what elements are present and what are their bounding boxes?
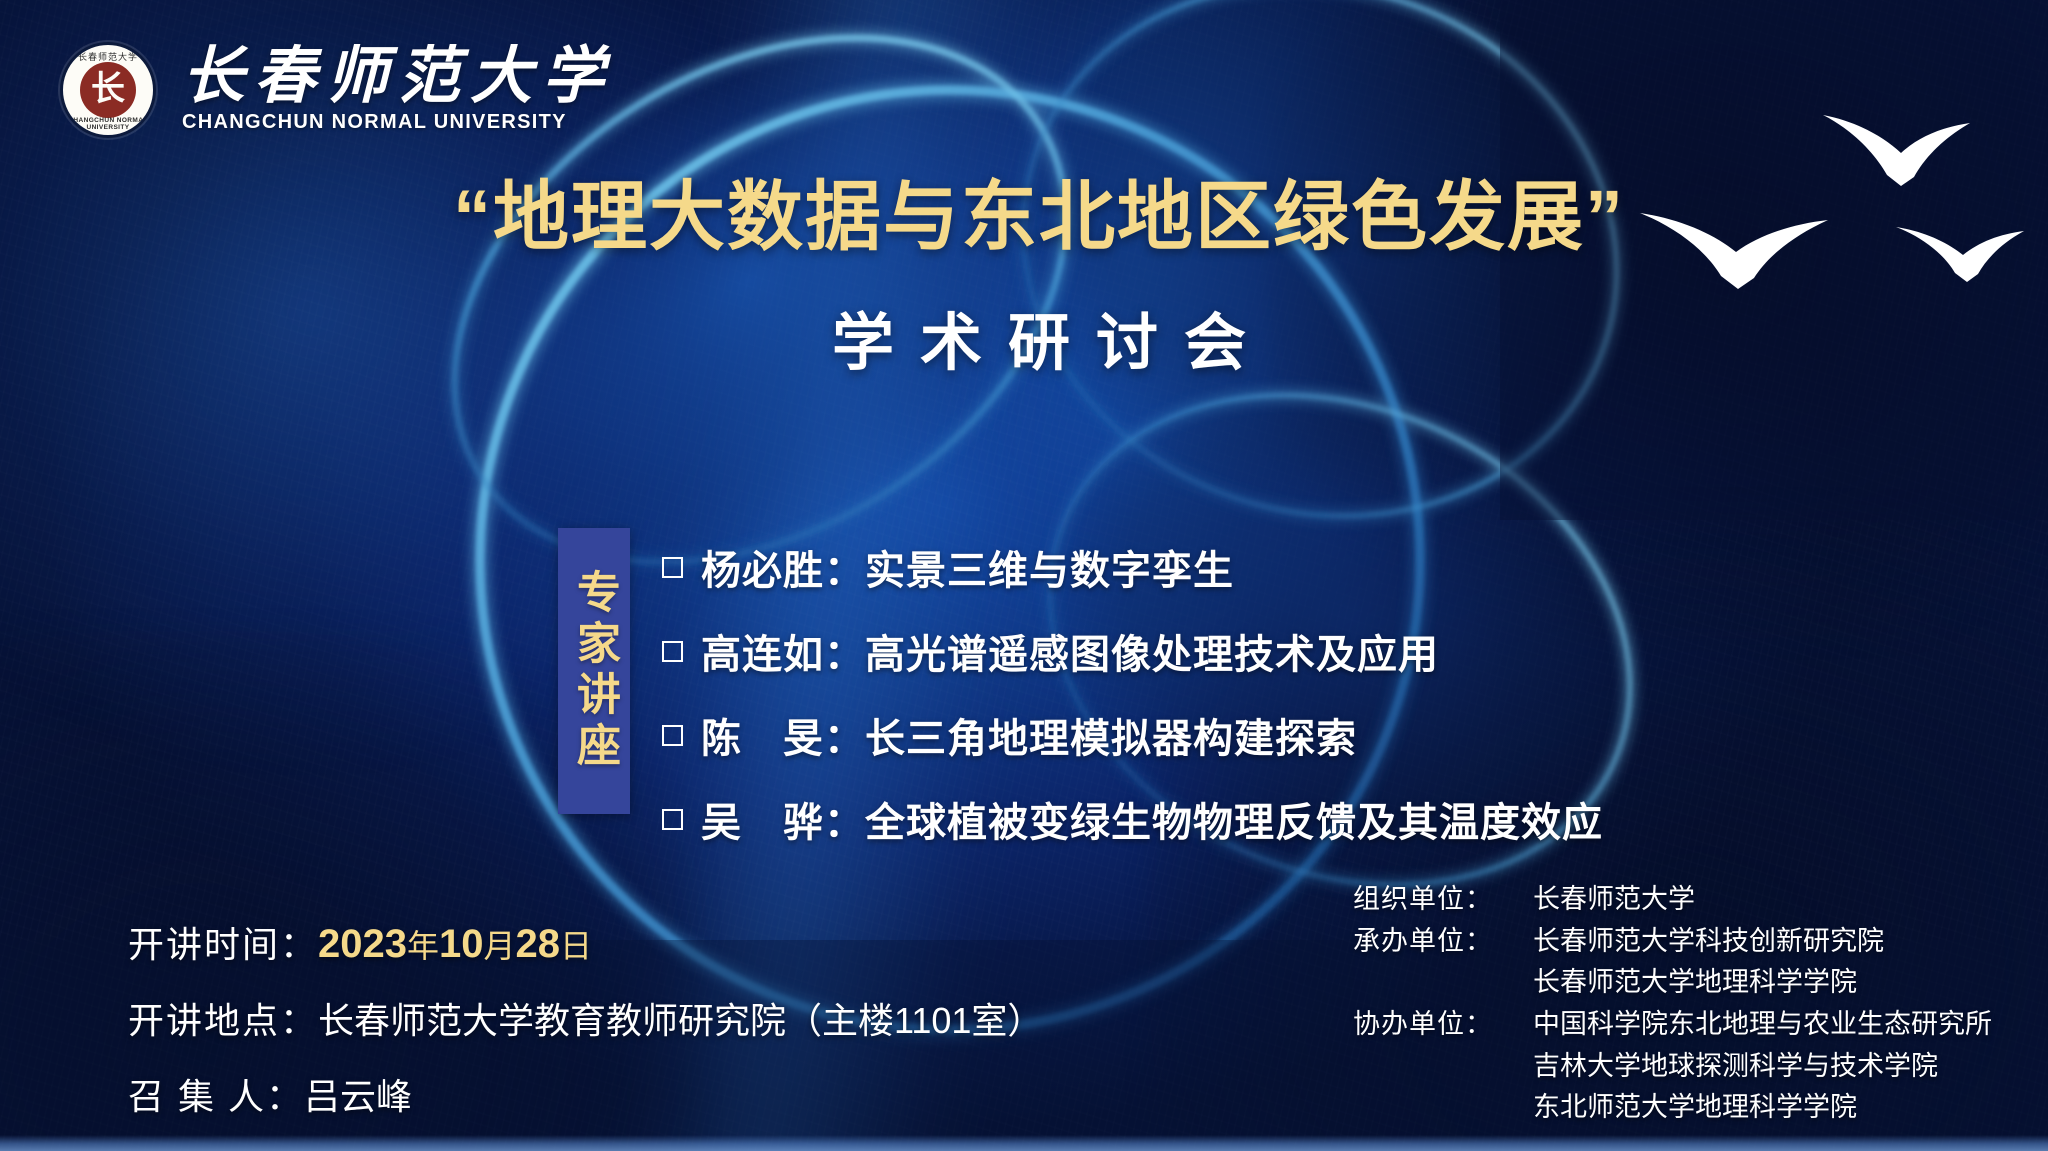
talk-text: 吴 骅：全球植被变绿生物物理反馈及其温度效应 xyxy=(701,790,1603,848)
organizer-value: 长春师范大学科技创新研究院 xyxy=(1533,924,1884,960)
poster-subtitle: 学术研讨会 xyxy=(0,292,2048,382)
university-seal-icon: 长春师范大学 长 CHANGCHUN NORMAL UNIVERSITY xyxy=(60,42,156,138)
event-info-label: 开讲时间： xyxy=(128,916,318,968)
organizer-value: 吉林大学地球探测科学与技术学院 xyxy=(1533,1049,1938,1085)
organizer-row: 东北师范大学地理科学学院 xyxy=(1353,1090,1857,1126)
organizer-row: 长春师范大学地理科学学院 xyxy=(1353,965,1857,1001)
talk-text: 高连如：高光谱遥感图像处理技术及应用 xyxy=(701,622,1439,680)
organizer-label: 组织单位： xyxy=(1353,882,1533,918)
seal-arc-top-text: 长春师范大学 xyxy=(63,50,153,63)
university-name-en: CHANGCHUN NORMAL UNIVERSITY xyxy=(182,111,614,134)
organizer-info-block: 组织单位：长春师范大学承办单位：长春师范大学科技创新研究院长春师范大学地理科学学… xyxy=(1353,882,1992,1126)
event-info-block: 开讲时间：2023年10月28日开讲地点：长春师范大学教育教师研究院（主楼110… xyxy=(128,916,1043,1120)
organizer-label: 协办单位： xyxy=(1353,1007,1533,1043)
organizer-row: 承办单位：长春师范大学科技创新研究院 xyxy=(1353,924,1884,960)
university-name-block: 长春师范大学 CHANGCHUN NORMAL UNIVERSITY xyxy=(182,46,614,134)
organizer-label: 承办单位： xyxy=(1353,924,1533,960)
organizer-value: 长春师范大学地理科学学院 xyxy=(1533,965,1857,1001)
talk-row: 杨必胜：实景三维与数字孪生 xyxy=(662,538,1603,596)
organizer-value: 东北师范大学地理科学学院 xyxy=(1533,1090,1857,1126)
university-name-cn: 长春师范大学 xyxy=(182,46,614,109)
organizer-label xyxy=(1353,965,1533,1001)
event-info-row: 开讲地点：长春师范大学教育教师研究院（主楼1101室） xyxy=(128,992,1043,1044)
organizer-value: 中国科学院东北地理与农业生态研究所 xyxy=(1533,1007,1992,1043)
event-info-value: 长春师范大学教育教师研究院（主楼1101室） xyxy=(318,992,1043,1044)
talk-text: 陈 旻：长三角地理模拟器构建探索 xyxy=(701,706,1357,764)
checkbox-icon xyxy=(662,641,683,662)
event-info-label: 开讲地点： xyxy=(128,992,318,1044)
talk-text: 杨必胜：实景三维与数字孪生 xyxy=(701,538,1234,596)
event-info-value: 吕云峰 xyxy=(304,1068,412,1120)
poster-canvas: 长春师范大学 长 CHANGCHUN NORMAL UNIVERSITY 长春师… xyxy=(0,0,2048,1151)
checkbox-icon xyxy=(662,725,683,746)
event-info-label: 召 集 人： xyxy=(128,1068,304,1120)
seal-center-glyph: 长 xyxy=(80,62,136,118)
organizer-row: 组织单位：长春师范大学 xyxy=(1353,882,1695,918)
event-date-value: 2023年10月28日 xyxy=(318,921,592,967)
event-info-row: 召 集 人：吕云峰 xyxy=(128,1068,1043,1120)
talk-row: 吴 骅：全球植被变绿生物物理反馈及其温度效应 xyxy=(662,790,1603,848)
organizer-row: 吉林大学地球探测科学与技术学院 xyxy=(1353,1049,1938,1085)
organizer-label xyxy=(1353,1049,1533,1085)
poster-title: “地理大数据与东北地区绿色发展” xyxy=(0,176,2048,260)
bottom-light-strip xyxy=(0,1135,2048,1151)
talks-list: 杨必胜：实景三维与数字孪生高连如：高光谱遥感图像处理技术及应用陈 旻：长三角地理… xyxy=(662,538,1603,848)
organizer-row: 协办单位：中国科学院东北地理与农业生态研究所 xyxy=(1353,1007,1992,1043)
talk-row: 高连如：高光谱遥感图像处理技术及应用 xyxy=(662,622,1603,680)
expert-lecture-badge: 专家讲座 xyxy=(558,528,630,814)
organizer-label xyxy=(1353,1090,1533,1126)
checkbox-icon xyxy=(662,809,683,830)
event-info-row: 开讲时间：2023年10月28日 xyxy=(128,916,1043,968)
checkbox-icon xyxy=(662,557,683,578)
seal-arc-bottom-text: CHANGCHUN NORMAL UNIVERSITY xyxy=(63,117,153,131)
talk-row: 陈 旻：长三角地理模拟器构建探索 xyxy=(662,706,1603,764)
university-logo: 长春师范大学 长 CHANGCHUN NORMAL UNIVERSITY 长春师… xyxy=(60,42,614,138)
organizer-value: 长春师范大学 xyxy=(1533,882,1695,918)
expert-lecture-badge-label: 专家讲座 xyxy=(572,569,616,773)
